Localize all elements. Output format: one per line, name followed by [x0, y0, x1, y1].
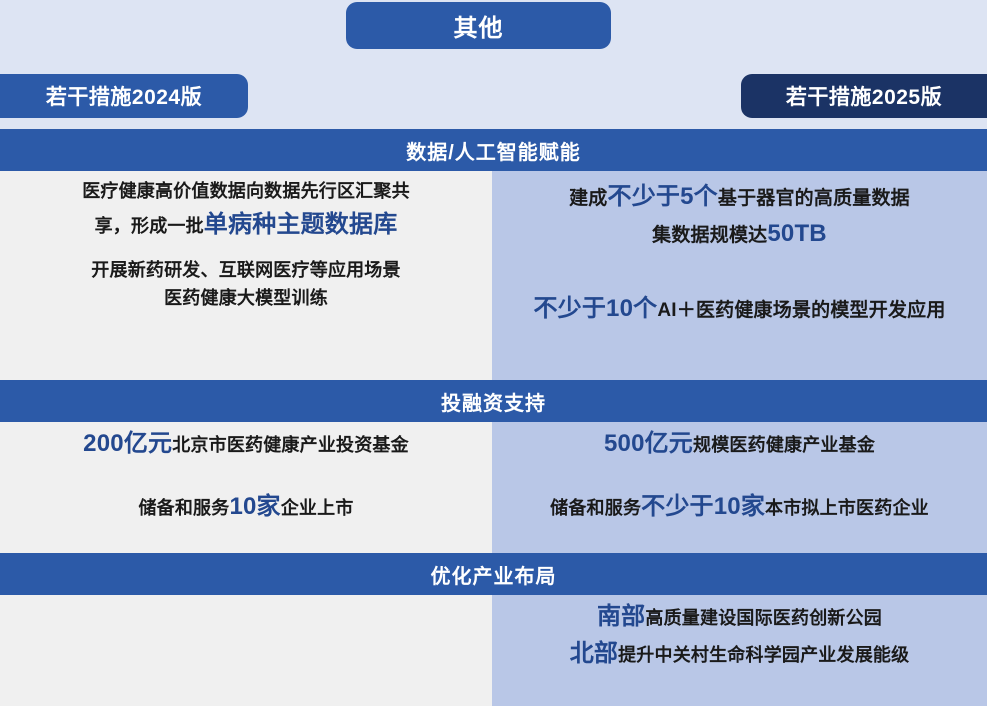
highlight-segment: 不少于10个 [533, 295, 657, 322]
highlight-segment: 不少于5个 [608, 183, 718, 210]
paragraph-industry-layout-2025-1: 南部高质量建设国际医药创新公园 [492, 598, 987, 635]
paragraph-investment-2024-1: 200亿元北京市医药健康产业投资基金 [0, 425, 492, 462]
highlight-segment: 单病种主题数据库 [204, 211, 398, 238]
text-segment: 集数据规模达 [652, 225, 767, 246]
text-segment: 建成 [569, 188, 607, 209]
highlight-segment: 10家 [229, 493, 280, 520]
paragraph-data-ai-2024-2: 开展新药研发、互联网医疗等应用场景 医药健康大模型训练 [0, 257, 492, 313]
cell-investment-2025: 500亿元规模医药健康产业基金 储备和服务不少于10家本市拟上市医药企业 [492, 425, 987, 549]
badge-version-2024: 若干措施2024版 [0, 74, 248, 118]
text-segment: 医药健康大模型训练 [164, 288, 328, 308]
paragraph-investment-2024-2: 储备和服务10家企业上市 [0, 488, 492, 525]
paragraph-investment-2025-1: 500亿元规模医药健康产业基金 [492, 425, 987, 462]
paragraph-data-ai-2025-2: 不少于10个AI＋医药健康场景的模型开发应用 [492, 290, 987, 327]
text-segment: 储备和服务 [550, 498, 641, 518]
text-segment: 享，形成一批 [95, 216, 204, 236]
section-header-data-ai: 数据/人工智能赋能 [0, 129, 987, 171]
paragraph-investment-2025-2: 储备和服务不少于10家本市拟上市医药企业 [492, 488, 987, 525]
page-title: 其他 [346, 2, 611, 49]
paragraph-data-ai-2024-1: 医疗健康高价值数据向数据先行区汇聚共 享，形成一批单病种主题数据库 [0, 178, 492, 243]
text-segment: 医疗健康高价值数据向数据先行区汇聚共 [82, 181, 410, 201]
highlight-segment: 南部 [597, 603, 645, 630]
highlight-segment: 不少于10家 [641, 493, 765, 520]
text-segment: 规模医药健康产业基金 [693, 435, 875, 455]
text-segment: 开展新药研发、互联网医疗等应用场景 [91, 260, 400, 280]
highlight-segment: 50TB [767, 220, 827, 247]
comparison-board: 其他 若干措施2024版 若干措施2025版 数据/人工智能赋能 医疗健康高价值… [0, 0, 987, 706]
highlight-segment: 500亿元 [604, 430, 693, 457]
cell-industry-layout-2025: 南部高质量建设国际医药创新公园 北部提升中关村生命科学园产业发展能级 [492, 598, 987, 706]
cell-data-ai-2025: 建成不少于5个基于器官的高质量数据 集数据规模达50TB 不少于10个AI＋医药… [492, 178, 987, 376]
highlight-segment: 北部 [570, 640, 618, 667]
cell-data-ai-2024: 医疗健康高价值数据向数据先行区汇聚共 享，形成一批单病种主题数据库 开展新药研发… [0, 178, 492, 376]
cell-industry-layout-2024 [0, 598, 492, 706]
text-segment: AI＋医药健康场景的模型开发应用 [657, 300, 945, 321]
text-segment: 高质量建设国际医药创新公园 [645, 608, 882, 628]
text-segment: 本市拟上市医药企业 [765, 498, 929, 518]
paragraph-industry-layout-2025-2: 北部提升中关村生命科学园产业发展能级 [492, 635, 987, 672]
text-segment: 基于器官的高质量数据 [718, 188, 910, 209]
cell-investment-2024: 200亿元北京市医药健康产业投资基金 储备和服务10家企业上市 [0, 425, 492, 549]
highlight-segment: 200亿元 [83, 430, 172, 457]
section-header-investment: 投融资支持 [0, 380, 987, 422]
text-segment: 企业上市 [281, 498, 354, 518]
text-segment: 储备和服务 [138, 498, 229, 518]
text-segment: 提升中关村生命科学园产业发展能级 [618, 645, 909, 665]
badge-version-2025: 若干措施2025版 [741, 74, 987, 118]
paragraph-data-ai-2025-1: 建成不少于5个基于器官的高质量数据 集数据规模达50TB [492, 178, 987, 252]
text-segment: 北京市医药健康产业投资基金 [172, 435, 409, 455]
section-header-industry-layout: 优化产业布局 [0, 553, 987, 595]
